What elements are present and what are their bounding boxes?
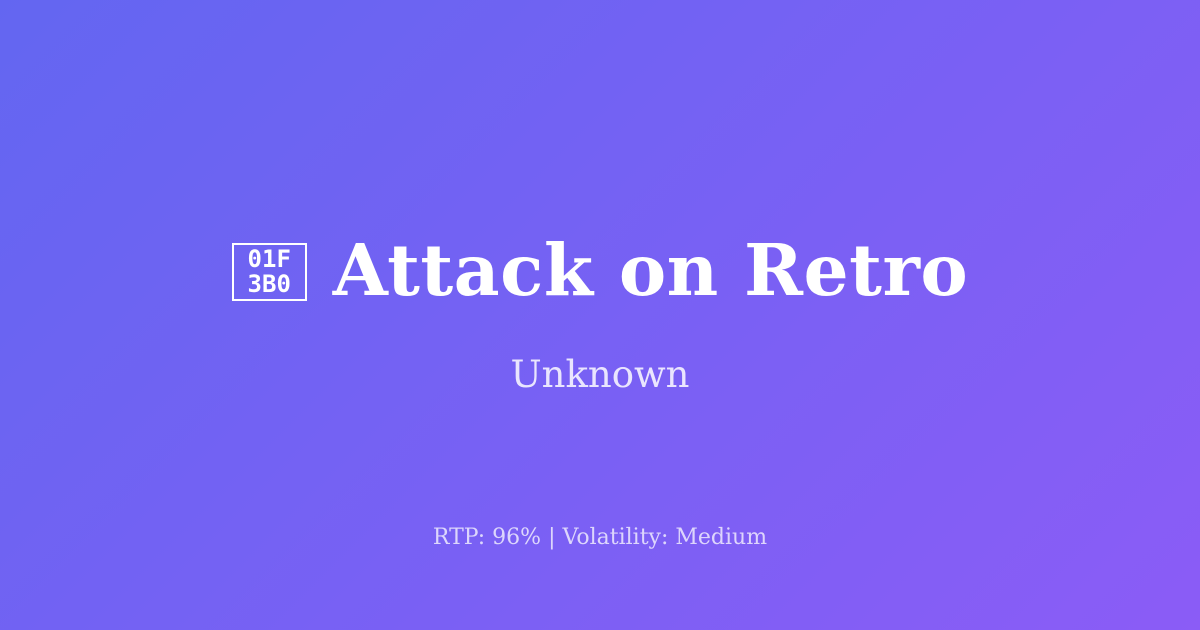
- tofu-codepoint-lower: 3B0: [248, 272, 291, 297]
- title-row: 01F 3B0 Attack on Retro: [232, 233, 969, 308]
- game-stats-footer: RTP: 96% | Volatility: Medium: [0, 524, 1200, 553]
- tofu-codepoint-upper: 01F: [248, 247, 291, 272]
- game-provider-subtitle: Unknown: [510, 353, 689, 397]
- page-title: Attack on Retro: [333, 233, 969, 308]
- slot-machine-icon: 01F 3B0: [232, 243, 307, 301]
